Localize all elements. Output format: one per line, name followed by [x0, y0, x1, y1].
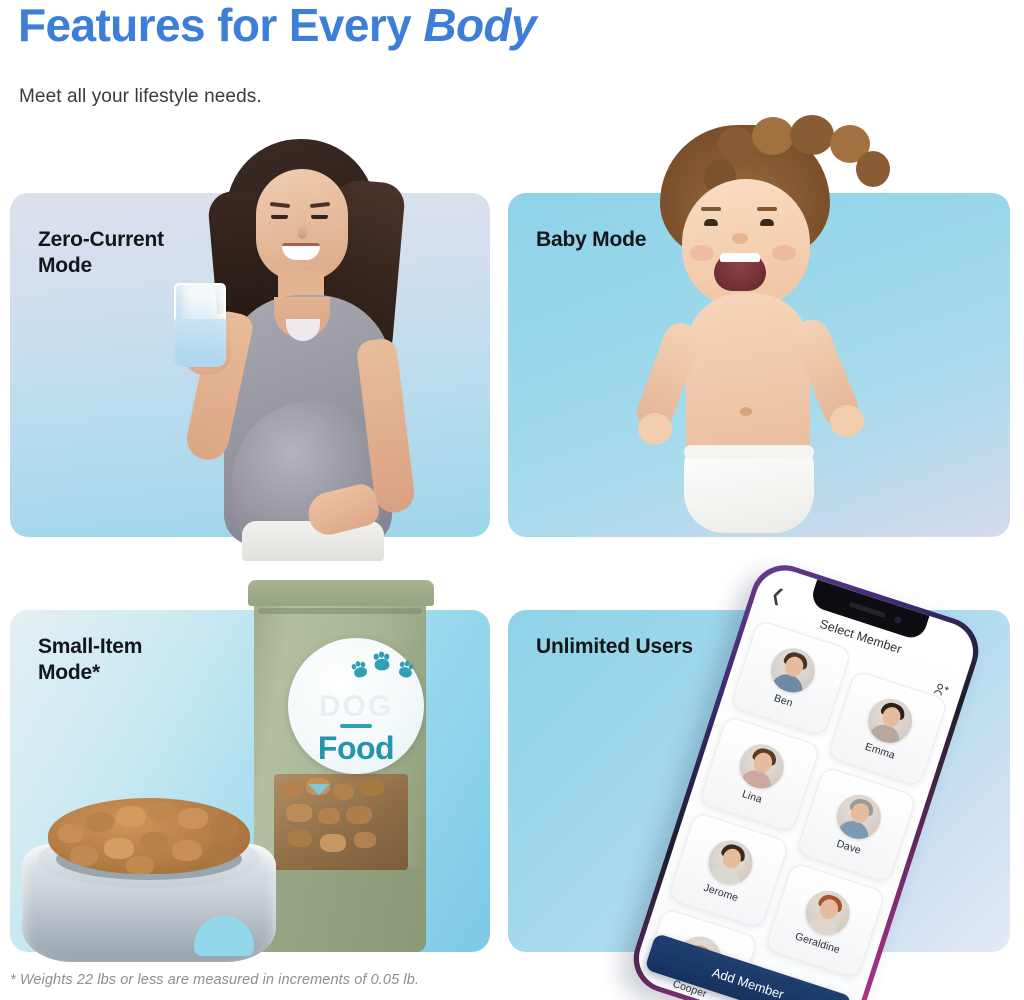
member-card-geraldine[interactable]: Geraldine	[764, 862, 886, 980]
card-label-baby-mode: Baby Mode	[536, 227, 646, 253]
dog-food-bowl-image	[22, 788, 276, 964]
feature-card-unlimited-users[interactable]: ❮ Select Member Ben	[508, 610, 1010, 952]
baby-image	[608, 125, 938, 539]
member-name: Ben	[772, 692, 794, 709]
avatar	[831, 789, 886, 844]
feature-card-zero-current[interactable]: Zero-Current Mode	[10, 193, 490, 537]
feature-card-small-item[interactable]: DOG Food Small-Item Mode*	[10, 610, 490, 952]
paw-print-icon	[395, 659, 417, 681]
feature-card-baby-mode[interactable]: Baby Mode	[508, 193, 1010, 537]
dog-food-logo-line1: DOG	[288, 690, 424, 724]
paw-print-icon	[372, 652, 393, 673]
bag-triangle-icon	[308, 784, 330, 795]
card-label-small-item: Small-Item Mode*	[38, 634, 142, 687]
avatar	[800, 885, 855, 940]
member-card-jerome[interactable]: Jerome	[667, 811, 789, 929]
avatar	[703, 835, 758, 890]
member-card-ben[interactable]: Ben	[730, 619, 852, 737]
paw-print-icon	[349, 659, 371, 681]
footnote-text: * Weights 22 lbs or less are measured in…	[10, 972, 419, 988]
member-card-lina[interactable]: Lina	[698, 715, 820, 833]
member-card-dave[interactable]: Dave	[795, 765, 917, 883]
dog-food-logo: DOG Food	[288, 638, 424, 774]
member-card-emma[interactable]: Emma	[826, 669, 948, 787]
avatar	[765, 643, 820, 698]
member-name: Lina	[741, 788, 764, 806]
card-label-unlimited-users: Unlimited Users	[536, 634, 693, 660]
features-page: Features for Every Body Meet all your li…	[0, 0, 1024, 1000]
dog-food-logo-line2: Food	[288, 730, 424, 767]
avatar	[734, 739, 789, 794]
avatar	[862, 693, 917, 748]
phone-mockup: ❮ Select Member Ben	[688, 582, 1024, 1000]
member-name: Dave	[835, 838, 862, 857]
card-label-zero-current: Zero-Current Mode	[38, 227, 164, 280]
feature-card-grid: Zero-Current Mode	[0, 0, 1024, 1000]
pregnant-woman-image	[170, 133, 470, 537]
